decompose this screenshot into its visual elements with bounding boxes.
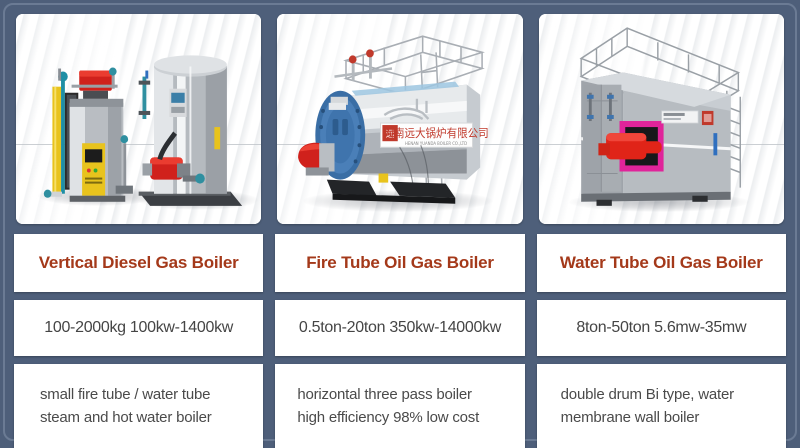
product-comparison-table: 远 河南远大锅炉有限公司 HENAN YUANDA BOILER CO.,LTD bbox=[0, 0, 800, 444]
description-line: membrane wall boiler bbox=[561, 406, 700, 429]
product-spec-2: 0.5ton-20ton 350kw-14000kw bbox=[275, 300, 524, 356]
svg-text:河南远大锅炉有限公司: 河南远大锅炉有限公司 bbox=[384, 126, 489, 140]
vertical-diesel-gas-boiler-illustration bbox=[16, 14, 261, 224]
description-line: horizontal three pass boiler bbox=[297, 383, 472, 406]
svg-text:HENAN YUANDA BOILER CO.,LTD: HENAN YUANDA BOILER CO.,LTD bbox=[405, 141, 467, 146]
description-line: high efficiency 98% low cost bbox=[297, 406, 479, 429]
product-description-1: small fire tube / water tube steam and h… bbox=[14, 364, 263, 448]
water-tube-oil-gas-boiler-illustration bbox=[539, 14, 784, 224]
product-image-cell-2[interactable]: 远 河南远大锅炉有限公司 HENAN YUANDA BOILER CO.,LTD bbox=[277, 14, 522, 224]
fire-tube-oil-gas-boiler-illustration: 远 河南远大锅炉有限公司 HENAN YUANDA BOILER CO.,LTD bbox=[277, 14, 522, 224]
description-line: double drum Bi type, water bbox=[561, 383, 734, 406]
description-line: steam and hot water boiler bbox=[40, 406, 212, 429]
product-description-2: horizontal three pass boiler high effici… bbox=[275, 364, 524, 448]
description-line: small fire tube / water tube bbox=[40, 383, 210, 406]
product-title-1: Vertical Diesel Gas Boiler bbox=[14, 234, 263, 292]
table-grid: 远 河南远大锅炉有限公司 HENAN YUANDA BOILER CO.,LTD bbox=[0, 0, 800, 444]
product-spec-1: 100-2000kg 100kw-1400kw bbox=[14, 300, 263, 356]
product-image-cell-1[interactable] bbox=[16, 14, 261, 224]
product-title-3: Water Tube Oil Gas Boiler bbox=[537, 234, 786, 292]
product-image-cell-3[interactable] bbox=[539, 14, 784, 224]
product-title-2: Fire Tube Oil Gas Boiler bbox=[275, 234, 524, 292]
product-spec-3: 8ton-50ton 5.6mw-35mw bbox=[537, 300, 786, 356]
product-description-3: double drum Bi type, water membrane wall… bbox=[537, 364, 786, 448]
